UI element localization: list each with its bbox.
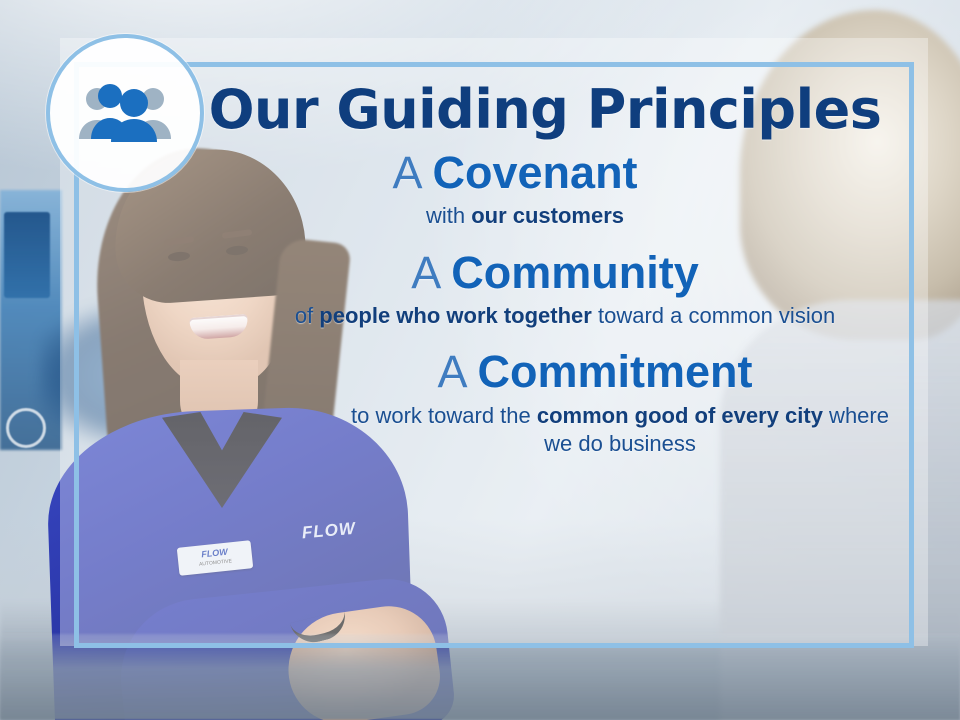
- principle-lead-1: A: [392, 147, 420, 198]
- principle-sub-prefix-1: with: [426, 203, 471, 228]
- principle-keyword-3: Commitment: [478, 346, 753, 397]
- text-block: Our Guiding Principles A Covenant with o…: [200, 82, 890, 459]
- principle-sub-bold-1: our customers: [471, 203, 624, 228]
- people-icon-badge: [46, 34, 204, 192]
- principle-commitment: A Commitment to work toward the common g…: [200, 348, 890, 458]
- principle-sub-community: of people who work together toward a com…: [200, 302, 890, 331]
- principle-keyword-1: Covenant: [433, 147, 638, 198]
- principle-sub-commitment: to work toward the common good of every …: [200, 402, 890, 459]
- principle-keyword-2: Community: [451, 247, 699, 298]
- guiding-principles-graphic: FLOW FLOW AUTOMOTIVE: [0, 0, 960, 720]
- principle-sub-prefix-2: of: [295, 303, 319, 328]
- principle-title-commitment: A Commitment: [200, 348, 890, 395]
- desk-surface: [0, 634, 960, 720]
- principle-title-community: A Community: [200, 249, 890, 296]
- principle-lead-3: A: [437, 346, 465, 397]
- page-title: Our Guiding Principles: [200, 82, 890, 139]
- principle-sub-prefix-3: to work toward the: [351, 403, 537, 428]
- principle-covenant: A Covenant with our customers: [200, 149, 890, 231]
- people-group-icon: [77, 82, 173, 144]
- principle-sub-bold-2: people who work together: [319, 303, 592, 328]
- principle-title-covenant: A Covenant: [200, 149, 890, 196]
- principle-sub-covenant: with our customers: [200, 202, 890, 231]
- principle-sub-bold-3: common good of every city: [537, 403, 823, 428]
- principle-community: A Community of people who work together …: [200, 249, 890, 331]
- principle-sub-suffix-2: toward a common vision: [592, 303, 835, 328]
- principle-lead-2: A: [411, 247, 439, 298]
